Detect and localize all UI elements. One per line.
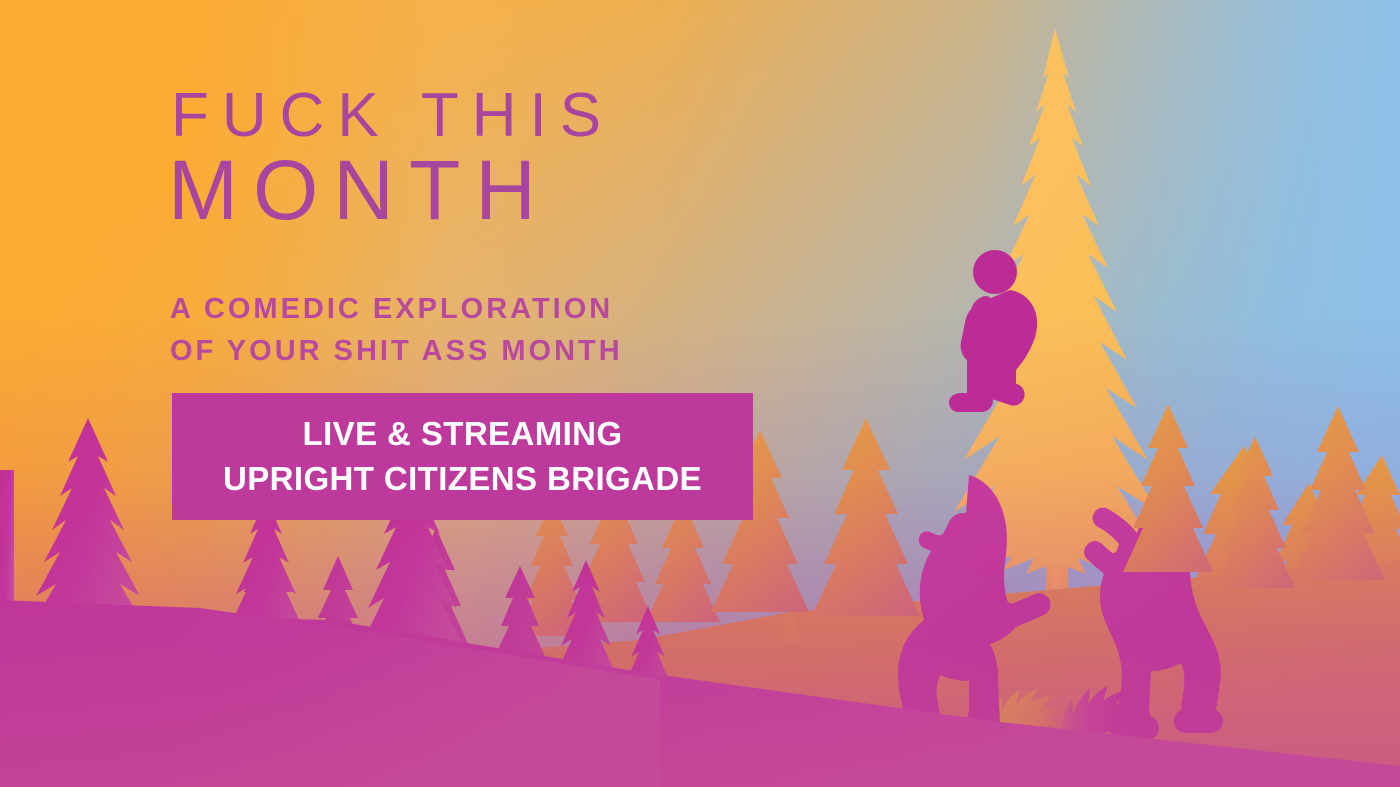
subtitle-line-1: A COMEDIC EXPLORATION <box>170 288 623 330</box>
subtitle-line-2: OF YOUR SHIT ASS MONTH <box>170 330 623 372</box>
banner-line-1: LIVE & STREAMING <box>303 412 623 457</box>
title-line-1: FUCK THIS <box>171 86 768 146</box>
title-block: FUCK THIS MONTH <box>168 86 768 232</box>
banner-line-2: UPRIGHT CITIZENS BRIGADE <box>223 457 702 502</box>
title-line-2: MONTH <box>168 150 768 231</box>
subtitle-block: A COMEDIC EXPLORATION OF YOUR SHIT ASS M… <box>170 288 623 373</box>
venue-banner: LIVE & STREAMING UPRIGHT CITIZENS BRIGAD… <box>172 393 753 520</box>
poster-canvas: FUCK THIS MONTH A COMEDIC EXPLORATION OF… <box>0 0 1400 787</box>
